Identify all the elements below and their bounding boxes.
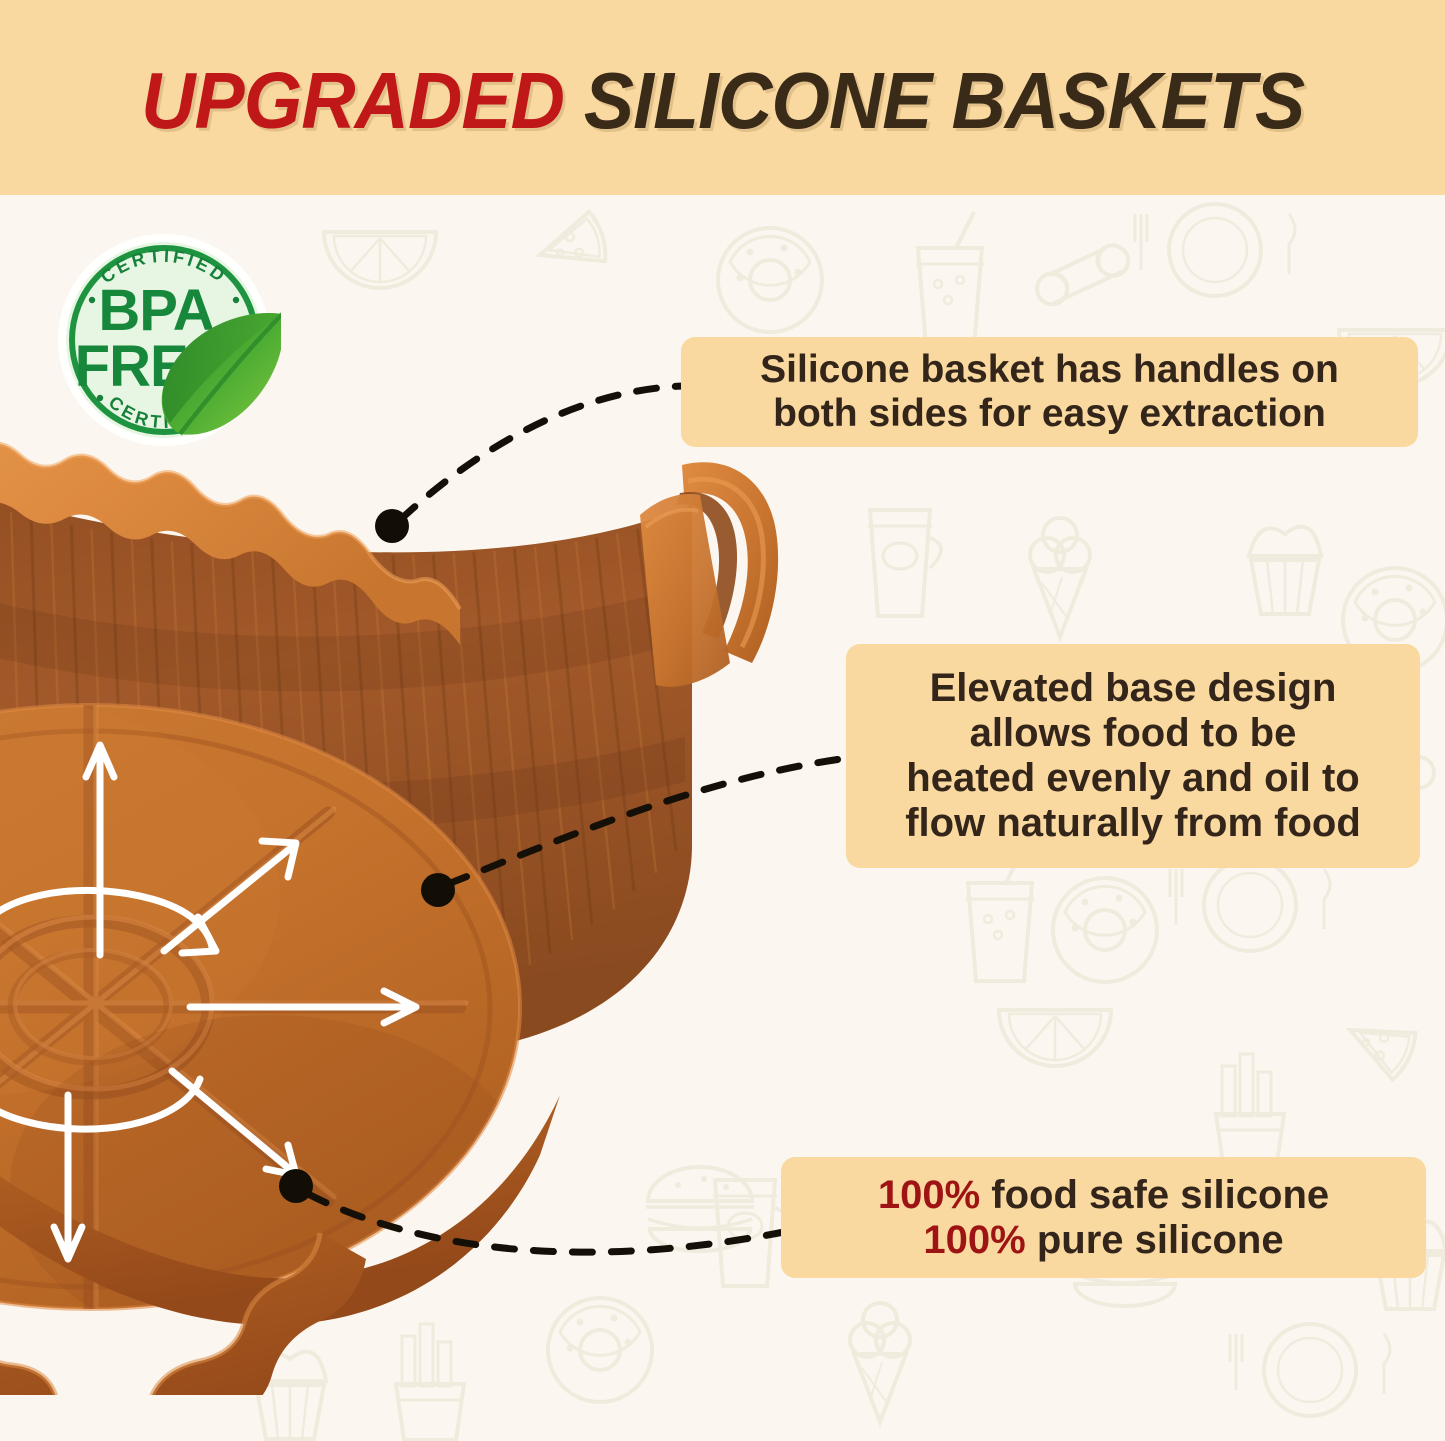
- callout-1-line-1: Silicone basket has handles on: [760, 348, 1339, 392]
- leader-line-2: [448, 758, 848, 884]
- callout-2-line-2: allows food to be: [905, 711, 1361, 756]
- callout-3-rest-1: food safe silicone: [980, 1173, 1329, 1217]
- leader-dot-1: [375, 509, 409, 543]
- callout-2-line-4: flow naturally from food: [905, 801, 1361, 846]
- callout-3-line-2: 100% pure silicone: [878, 1218, 1329, 1263]
- callout-food-safe: 100% food safe silicone 100% pure silico…: [781, 1157, 1426, 1278]
- callout-handles: Silicone basket has handles on both side…: [681, 337, 1418, 447]
- infographic-canvas: UPGRADED SILICONE BASKETS: [0, 0, 1445, 1441]
- bpa-free-badge: CERTIFIED CERTIFIED BPA FREE: [46, 228, 281, 450]
- callout-1-line-2: both sides for easy extraction: [760, 392, 1339, 436]
- callout-3-rest-2: pure silicone: [1026, 1218, 1284, 1262]
- callout-2-line-1: Elevated base design: [905, 666, 1361, 711]
- callout-3-pct-2: 100%: [923, 1218, 1025, 1262]
- leader-dot-2: [421, 873, 455, 907]
- callout-2-line-3: heated evenly and oil to: [905, 756, 1361, 801]
- leader-dot-3: [279, 1169, 313, 1203]
- callout-3-pct-1: 100%: [878, 1173, 980, 1217]
- leader-line-1: [400, 386, 684, 520]
- leader-line-3: [308, 1194, 784, 1252]
- callout-3-line-1: 100% food safe silicone: [878, 1173, 1329, 1218]
- callout-elevated-base: Elevated base design allows food to be h…: [846, 644, 1420, 868]
